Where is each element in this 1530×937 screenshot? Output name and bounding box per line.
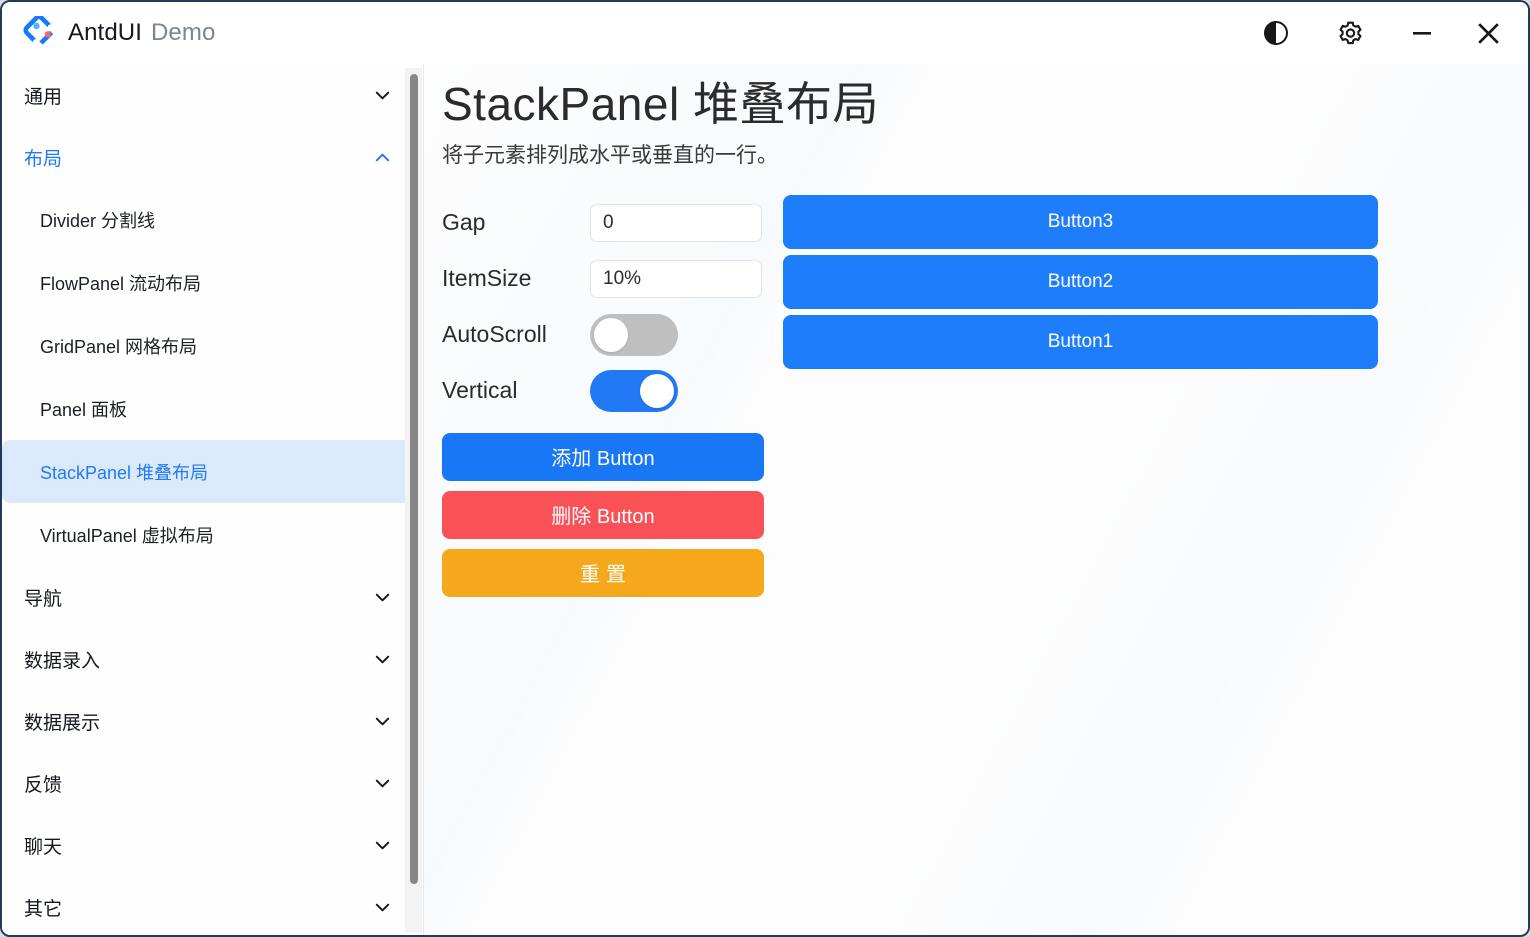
sidebar-item-label: FlowPanel 流动布局 [40, 270, 201, 296]
sidebar-item-label: StackPanel 堆叠布局 [40, 459, 208, 485]
vertical-toggle[interactable] [590, 370, 678, 412]
sidebar-list: 通用布局Divider 分割线FlowPanel 流动布局GridPanel 网… [2, 64, 422, 935]
gap-label: Gap [442, 209, 590, 236]
stack-button[interactable]: Button3 [783, 195, 1378, 249]
sidebar-scrollbar[interactable] [405, 68, 422, 933]
close-icon [1474, 19, 1503, 48]
sidebar-item[interactable]: Divider 分割线 [2, 188, 422, 251]
sidebar-group-label: 数据展示 [24, 708, 100, 735]
demo-area: Gap ItemSize AutoScroll Vert [442, 195, 1502, 597]
sidebar-group-label: 通用 [24, 82, 62, 109]
delete-button-action[interactable]: 删除 Button [442, 491, 764, 539]
gear-icon [1337, 20, 1364, 47]
title-bar: AntdUI Demo [2, 2, 1528, 64]
control-column: Gap ItemSize AutoScroll Vert [442, 195, 767, 597]
sidebar-group-5[interactable]: 反馈 [2, 752, 422, 814]
close-button[interactable] [1460, 2, 1516, 64]
sidebar-item[interactable]: VirtualPanel 虚拟布局 [2, 503, 422, 566]
sidebar-item-label: VirtualPanel 虚拟布局 [40, 522, 214, 548]
gap-row: Gap [442, 195, 767, 251]
auto-scroll-label: AutoScroll [442, 321, 590, 348]
sidebar-nav: 通用布局Divider 分割线FlowPanel 流动布局GridPanel 网… [2, 64, 422, 935]
auto-scroll-row: AutoScroll [442, 307, 767, 363]
sidebar-group-6[interactable]: 聊天 [2, 814, 422, 876]
sidebar-group-label: 其它 [24, 894, 62, 921]
item-size-row: ItemSize [442, 251, 767, 307]
half-circle-theme-icon [1263, 20, 1289, 46]
sidebar-group-label: 反馈 [24, 770, 62, 797]
sidebar-group-label: 数据录入 [24, 646, 100, 673]
sidebar-group-7[interactable]: 其它 [2, 876, 422, 935]
sidebar-item-active[interactable]: StackPanel 堆叠布局 [2, 440, 422, 503]
chevron-down-icon [373, 588, 392, 607]
chevron-down-icon [373, 774, 392, 793]
theme-toggle-button[interactable] [1248, 2, 1304, 64]
chevron-down-icon [373, 86, 392, 105]
main-content: StackPanel 堆叠布局 将子元素排列成水平或垂直的一行。 Gap Ite… [424, 64, 1528, 935]
minimize-button[interactable] [1394, 2, 1450, 64]
vertical-label: Vertical [442, 377, 590, 404]
item-size-label: ItemSize [442, 265, 590, 292]
stack-button[interactable]: Button2 [783, 255, 1378, 309]
auto-scroll-toggle[interactable] [590, 314, 678, 356]
gap-input[interactable] [590, 204, 762, 242]
window-controls [1248, 2, 1528, 64]
stack-panel: Button3Button2Button1 [783, 195, 1378, 375]
stack-button[interactable]: Button1 [783, 315, 1378, 369]
sidebar-group-0[interactable]: 通用 [2, 64, 422, 126]
chevron-down-icon [373, 650, 392, 669]
sidebar-item[interactable]: GridPanel 网格布局 [2, 314, 422, 377]
sidebar-item-label: Panel 面板 [40, 396, 127, 422]
add-button-action[interactable]: 添加 Button [442, 433, 764, 481]
chevron-down-icon [373, 712, 392, 731]
sidebar-scrollbar-thumb[interactable] [410, 74, 418, 884]
sidebar-item-label: GridPanel 网格布局 [40, 333, 197, 359]
settings-button[interactable] [1322, 2, 1378, 64]
chevron-down-icon [373, 898, 392, 917]
antdui-logo-icon [22, 16, 56, 50]
toggle-knob [640, 374, 674, 408]
sidebar-group-label: 布局 [24, 144, 62, 171]
app-window: AntdUI Demo [0, 0, 1530, 937]
app-subtitle: Demo [151, 19, 215, 47]
sidebar-group-label: 聊天 [24, 832, 62, 859]
sidebar-divider [423, 64, 424, 935]
sidebar-item[interactable]: Panel 面板 [2, 377, 422, 440]
item-size-input[interactable] [590, 260, 762, 298]
chevron-up-icon [373, 148, 392, 167]
sidebar-group-1[interactable]: 布局 [2, 126, 422, 188]
sidebar-item-label: Divider 分割线 [40, 207, 155, 233]
page-description: 将子元素排列成水平或垂直的一行。 [442, 139, 1502, 169]
body-area: 通用布局Divider 分割线FlowPanel 流动布局GridPanel 网… [2, 64, 1528, 935]
sidebar-group-3[interactable]: 数据录入 [2, 628, 422, 690]
sidebar-group-2[interactable]: 导航 [2, 566, 422, 628]
vertical-row: Vertical [442, 363, 767, 419]
sidebar-item[interactable]: FlowPanel 流动布局 [2, 251, 422, 314]
chevron-down-icon [373, 836, 392, 855]
sidebar-group-label: 导航 [24, 584, 62, 611]
toggle-knob [594, 318, 628, 352]
reset-button-action[interactable]: 重置 [442, 549, 764, 597]
sidebar-group-4[interactable]: 数据展示 [2, 690, 422, 752]
app-title: AntdUI [68, 19, 142, 47]
page-title: StackPanel 堆叠布局 [442, 78, 1502, 131]
minimize-icon [1409, 20, 1435, 46]
